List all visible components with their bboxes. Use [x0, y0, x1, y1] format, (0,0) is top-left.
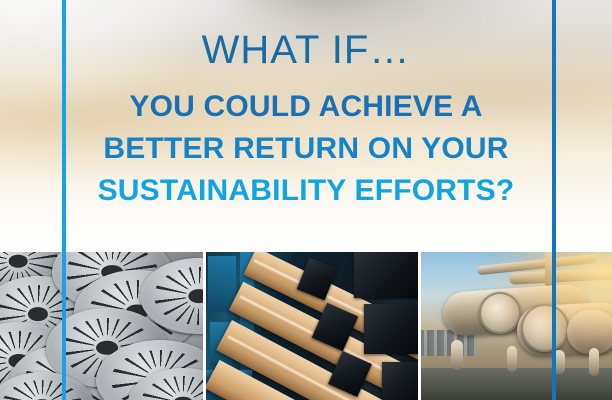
banner-page: WHAT IF… YOU COULD ACHIEVE A BETTER RETU…	[0, 0, 612, 400]
headline-eyebrow: WHAT IF…	[0, 0, 612, 72]
headline-line-2: BETTER RETURN ON YOUR	[0, 128, 612, 170]
metal-discs-artwork	[0, 252, 203, 400]
left-vertical-rule-band	[62, 252, 66, 400]
headline-block: WHAT IF… YOU COULD ACHIEVE A BETTER RETU…	[0, 0, 612, 212]
photo-panel-industrial-rollers	[206, 252, 418, 400]
left-vertical-rule	[62, 0, 66, 252]
refinery-artwork	[421, 252, 612, 400]
industrial-rollers-artwork	[206, 252, 418, 400]
hero-section: WHAT IF… YOU COULD ACHIEVE A BETTER RETU…	[0, 0, 612, 252]
right-vertical-rule-band	[552, 252, 556, 400]
photo-strip	[0, 252, 612, 400]
headline-line-3: SUSTAINABILITY EFFORTS?	[0, 170, 612, 212]
photo-panel-metal-discs	[0, 252, 203, 400]
headline-line-1: YOU COULD ACHIEVE A	[0, 72, 612, 128]
sunset-glow	[421, 252, 612, 400]
photo-panel-refinery	[421, 252, 612, 400]
right-vertical-rule	[552, 0, 556, 252]
